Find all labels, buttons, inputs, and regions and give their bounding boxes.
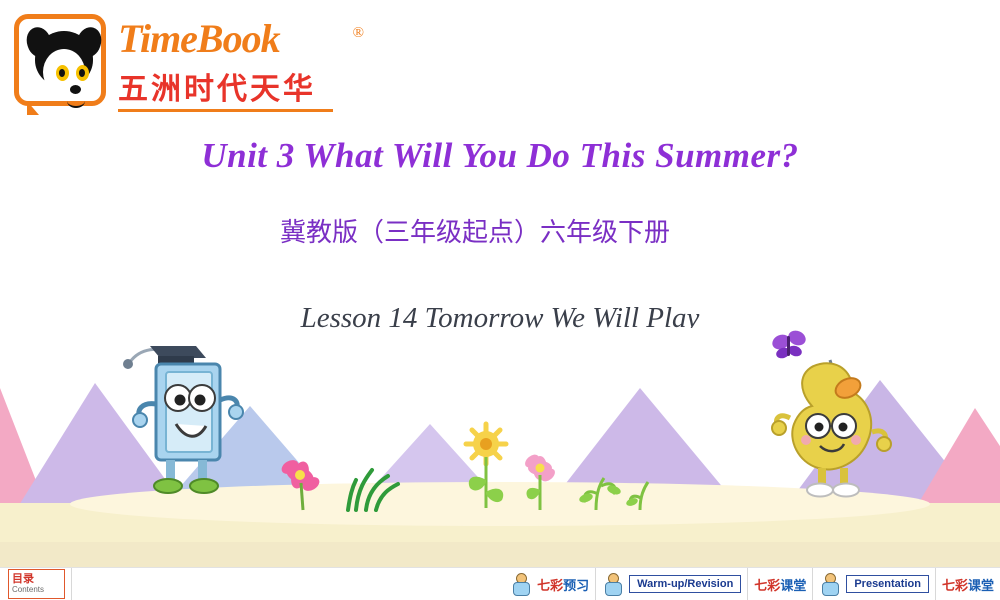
subtitle-chinese: 冀教版（三年级起点）六年级下册: [280, 214, 750, 252]
butterfly-icon: [770, 328, 808, 360]
contents-label-cn: 目录: [12, 573, 64, 584]
logo-speech-tail: [27, 101, 39, 115]
logo-text: TimeBook ® 五洲时代天华: [118, 16, 353, 112]
logo-badge: [14, 14, 106, 106]
nav-item-qicai-yuxi[interactable]: 七彩预习: [504, 568, 596, 600]
nav-item-presentation[interactable]: Presentation: [813, 568, 936, 600]
student-icon: [510, 572, 532, 596]
nav-item-qicai-ketang[interactable]: 七彩课堂: [748, 568, 813, 600]
contents-label-en: Contents: [12, 584, 64, 595]
qicai-yuxi-label: 七彩预习: [537, 575, 589, 594]
qicai-ketang-label: 七彩课堂: [754, 575, 806, 594]
qicai-ketang-2-label: 七彩课堂: [942, 575, 994, 594]
logo-underline: [118, 109, 333, 112]
student-icon-2: [602, 572, 624, 596]
logo-brand-en: TimeBook ®: [118, 16, 353, 62]
registered-mark-icon: ®: [353, 10, 363, 56]
toolbar-gap-1: [72, 568, 504, 600]
scene-svg: [0, 328, 1000, 568]
warmup-revision-label: Warm-up/Revision: [629, 575, 741, 593]
illustration-scene: [0, 328, 1000, 568]
dog-mascot-icon: [29, 25, 99, 101]
contents-button[interactable]: 目录 Contents: [0, 568, 72, 600]
logo-brand-en-text: TimeBook: [118, 16, 280, 61]
logo-brand-cn: 五洲时代天华: [118, 64, 353, 108]
nav-item-warmup-revision[interactable]: Warm-up/Revision: [596, 568, 748, 600]
page-title: Unit 3 What Will You Do This Summer?: [0, 136, 1000, 176]
student-icon-3: [819, 572, 841, 596]
brand-logo: TimeBook ® 五洲时代天华: [14, 12, 354, 112]
bottom-toolbar[interactable]: 目录 Contents 七彩预习 Warm-up/Revision 七彩课堂 P…: [0, 567, 1000, 600]
presentation-label: Presentation: [846, 575, 929, 593]
nav-item-qicai-ketang-2[interactable]: 七彩课堂: [936, 568, 1000, 600]
